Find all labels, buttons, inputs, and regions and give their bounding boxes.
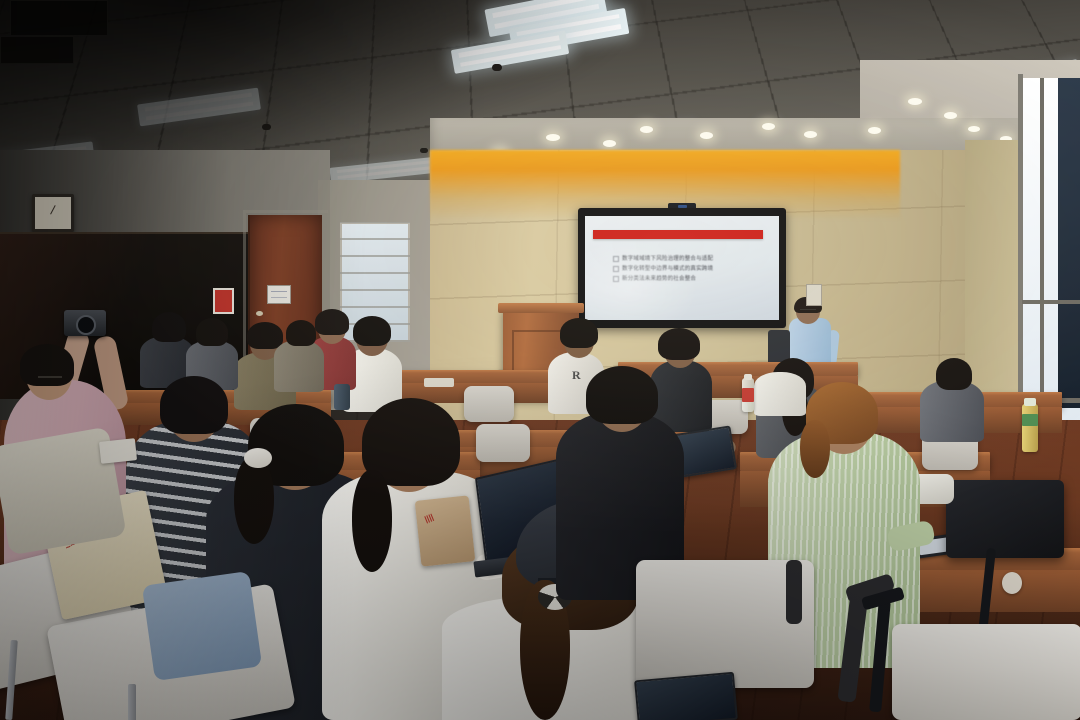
- audience-chair[interactable]: [464, 386, 514, 422]
- audience-chair[interactable]: [476, 424, 530, 462]
- door-notice-sign: [267, 285, 291, 304]
- paper-sheet[interactable]: [424, 378, 454, 387]
- downlight: [546, 134, 560, 141]
- downlight: [804, 131, 817, 138]
- wall-clock: [32, 194, 74, 232]
- hair: [152, 312, 186, 342]
- hair: [560, 318, 598, 348]
- hair: [658, 328, 700, 360]
- downlight: [868, 127, 881, 134]
- downlight: [603, 140, 616, 147]
- downlight: [640, 126, 653, 133]
- downlight: [968, 126, 980, 132]
- bottle-label: [742, 388, 754, 402]
- hair: [936, 358, 972, 390]
- bottle-cap: [1024, 398, 1036, 406]
- door-knob[interactable]: [256, 311, 263, 316]
- camera-lens-icon: [76, 315, 96, 335]
- bag-charm: [1002, 572, 1022, 594]
- denim-jacket: [142, 571, 262, 681]
- audience-chair[interactable]: [892, 624, 1080, 720]
- ponytail: [234, 456, 274, 544]
- water-bottle[interactable]: [1022, 404, 1038, 452]
- hair: [286, 320, 316, 346]
- emergency-notice-sign: [213, 288, 234, 314]
- camera[interactable]: [64, 310, 106, 336]
- podium-top: [498, 303, 584, 313]
- bag-print: ||||: [423, 512, 435, 524]
- wall-control-panel: [806, 284, 822, 306]
- tee-print-letter: R: [572, 368, 583, 382]
- hair: [247, 322, 283, 349]
- tablet[interactable]: [634, 672, 738, 720]
- window-mullion: [1022, 300, 1080, 304]
- downlight: [944, 112, 957, 119]
- downlight: [700, 132, 713, 139]
- torso: [754, 372, 806, 416]
- hair: [196, 318, 228, 346]
- paper-bag[interactable]: ||||: [415, 495, 476, 566]
- downlight: [762, 123, 775, 130]
- hair: [586, 366, 658, 424]
- scrunchie: [244, 448, 272, 468]
- ponytail: [352, 470, 392, 572]
- hair: [315, 309, 349, 335]
- hair: [353, 316, 391, 346]
- downlight: [908, 98, 922, 105]
- presentation-screen[interactable]: 数字域域境下风险治理的整合与适配 数字化转型中边界与模式的真实跨境 新分类法未来…: [585, 216, 779, 320]
- travel-mug[interactable]: [334, 384, 350, 410]
- hair: [160, 376, 228, 434]
- screen-glare: [585, 216, 779, 320]
- lecture-hall-photo: 数字域域境下风险治理的整合与适配 数字化转型中边界与模式的真实跨境 新分类法未来…: [0, 0, 1080, 720]
- chair-leg: [128, 684, 136, 720]
- bottle-cap: [744, 374, 752, 380]
- ponytail: [800, 420, 830, 478]
- presenter-glasses-icon: [800, 309, 816, 314]
- glasses-icon: [38, 376, 62, 381]
- torso: [274, 340, 324, 392]
- black-handbag[interactable]: [946, 480, 1064, 558]
- chair-armrest[interactable]: [786, 560, 802, 624]
- notebook[interactable]: [99, 438, 137, 464]
- bottle-label: [1022, 414, 1038, 426]
